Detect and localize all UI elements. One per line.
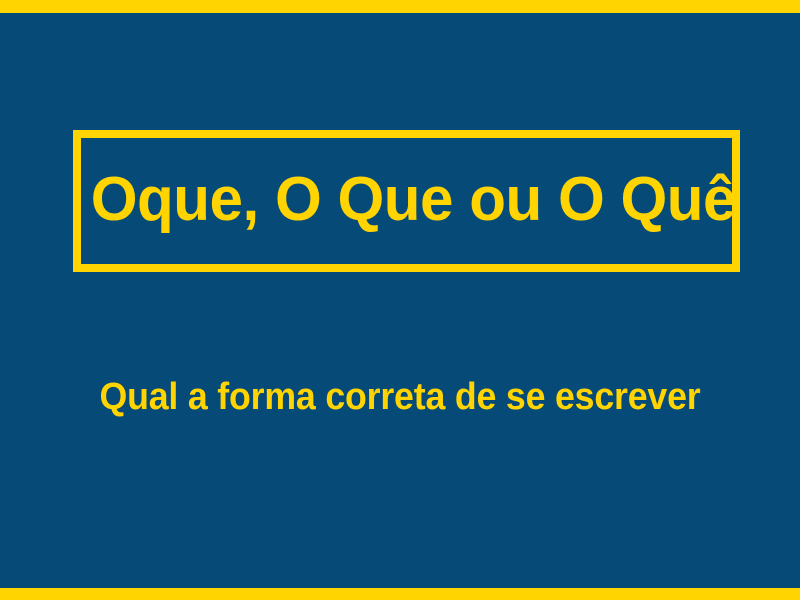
subtitle: Qual a forma correta de se escrever: [24, 376, 776, 419]
slide-canvas: Oque, O Que ou O Quê Qual a forma corret…: [0, 0, 800, 600]
top-accent-bar: [0, 0, 800, 13]
title-frame: Oque, O Que ou O Quê: [73, 130, 740, 272]
page-title: Oque, O Que ou O Quê: [91, 168, 722, 231]
bottom-accent-bar: [0, 588, 800, 600]
